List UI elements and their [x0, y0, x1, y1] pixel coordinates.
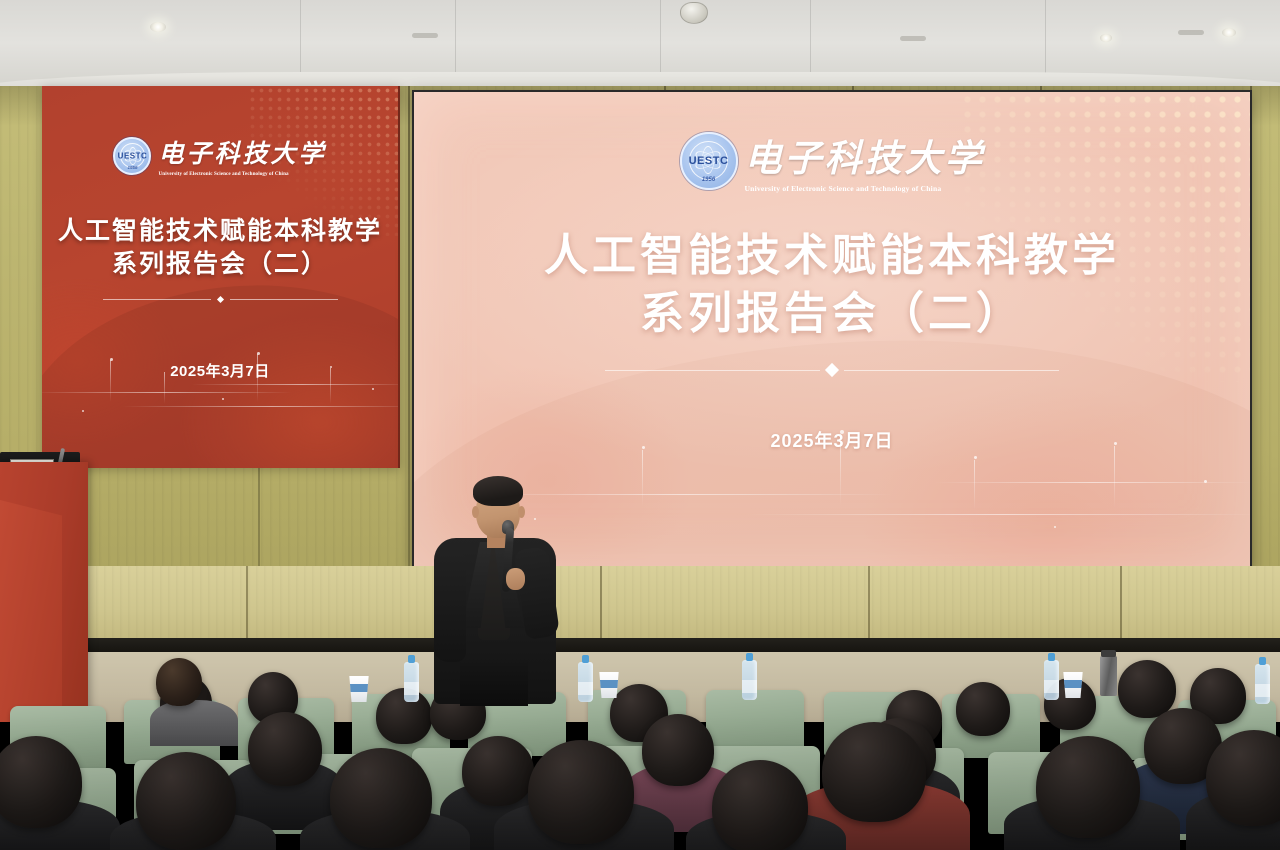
logo-chinese-name: 电子科技大学	[745, 128, 985, 182]
logo-english-name: University of Electronic Science and Tec…	[158, 171, 288, 177]
banner-title-line2: 系列报告会（二）	[42, 248, 398, 281]
audience-shoulders	[150, 700, 238, 746]
paper-cup	[598, 672, 620, 698]
audience-head	[1118, 660, 1176, 718]
seal-acronym: UESTC	[115, 151, 149, 160]
logo-english-name: University of Electronic Science and Tec…	[745, 184, 942, 193]
audience-head	[956, 682, 1010, 736]
paper-cup	[1062, 672, 1084, 698]
screen-title: 人工智能技术赋能本科教学 系列报告会（二）	[414, 227, 1250, 343]
uestc-logo: UESTC 1956 电子科技大学 University of Electron…	[414, 128, 1250, 193]
banner-title: 人工智能技术赋能本科教学 系列报告会（二）	[42, 215, 398, 281]
audience-head	[712, 760, 808, 850]
speaker-trousers	[460, 660, 528, 706]
vacuum-flask	[1100, 656, 1117, 696]
uestc-logo: UESTC 1956 电子科技大学 University of Electron…	[42, 134, 398, 177]
air-vent	[1178, 30, 1204, 35]
audience-head	[642, 714, 714, 786]
seal-acronym: UESTC	[682, 155, 736, 167]
uestc-seal-icon: UESTC 1956	[680, 132, 738, 190]
screen-title-line2: 系列报告会（二）	[414, 285, 1250, 343]
recessed-downlight	[1100, 34, 1112, 42]
audience-head	[528, 740, 634, 844]
paper-cup	[348, 676, 370, 702]
smoke-detector-icon	[680, 2, 708, 24]
banner-title-line1: 人工智能技术赋能本科教学	[42, 215, 398, 248]
seal-year: 1956	[682, 177, 736, 183]
screen-divider	[414, 365, 1250, 375]
speaker-hair	[473, 476, 523, 506]
water-bottle	[404, 662, 419, 702]
recessed-downlight	[1222, 28, 1236, 37]
audience-head	[136, 752, 236, 850]
audience-head	[462, 736, 534, 806]
audience-head	[822, 722, 926, 822]
speaker-hand	[506, 568, 525, 590]
auditorium-seat	[706, 690, 804, 754]
stage-wainscot	[0, 566, 1280, 644]
air-vent	[412, 33, 438, 38]
uestc-seal-icon: UESTC 1956	[113, 137, 151, 175]
logo-chinese-name: 电子科技大学	[158, 134, 326, 170]
lecture-hall-photo: UESTC 1956 电子科技大学 University of Electron…	[0, 0, 1280, 850]
banner-date: 2025年3月7日	[42, 360, 398, 381]
audience-head	[248, 712, 322, 786]
audience-head	[156, 658, 202, 706]
left-red-banner: UESTC 1956 电子科技大学 University of Electron…	[42, 86, 400, 468]
ceiling	[0, 0, 1280, 96]
screen-title-line1: 人工智能技术赋能本科教学	[414, 227, 1250, 285]
water-bottle	[742, 660, 757, 700]
water-bottle	[1255, 664, 1270, 704]
banner-divider	[42, 297, 398, 302]
podium-front-panel	[0, 500, 62, 722]
screen-date: 2025年3月7日	[414, 427, 1250, 453]
audience-head	[0, 736, 82, 828]
water-bottle	[578, 662, 593, 702]
speaker-left-arm	[434, 552, 466, 662]
water-bottle	[1044, 660, 1059, 700]
audience-head	[330, 748, 432, 848]
recessed-downlight	[150, 22, 166, 32]
seal-year: 1956	[115, 165, 149, 170]
air-vent	[900, 36, 926, 41]
speaker-person	[432, 472, 558, 704]
audience-head	[1036, 736, 1140, 838]
